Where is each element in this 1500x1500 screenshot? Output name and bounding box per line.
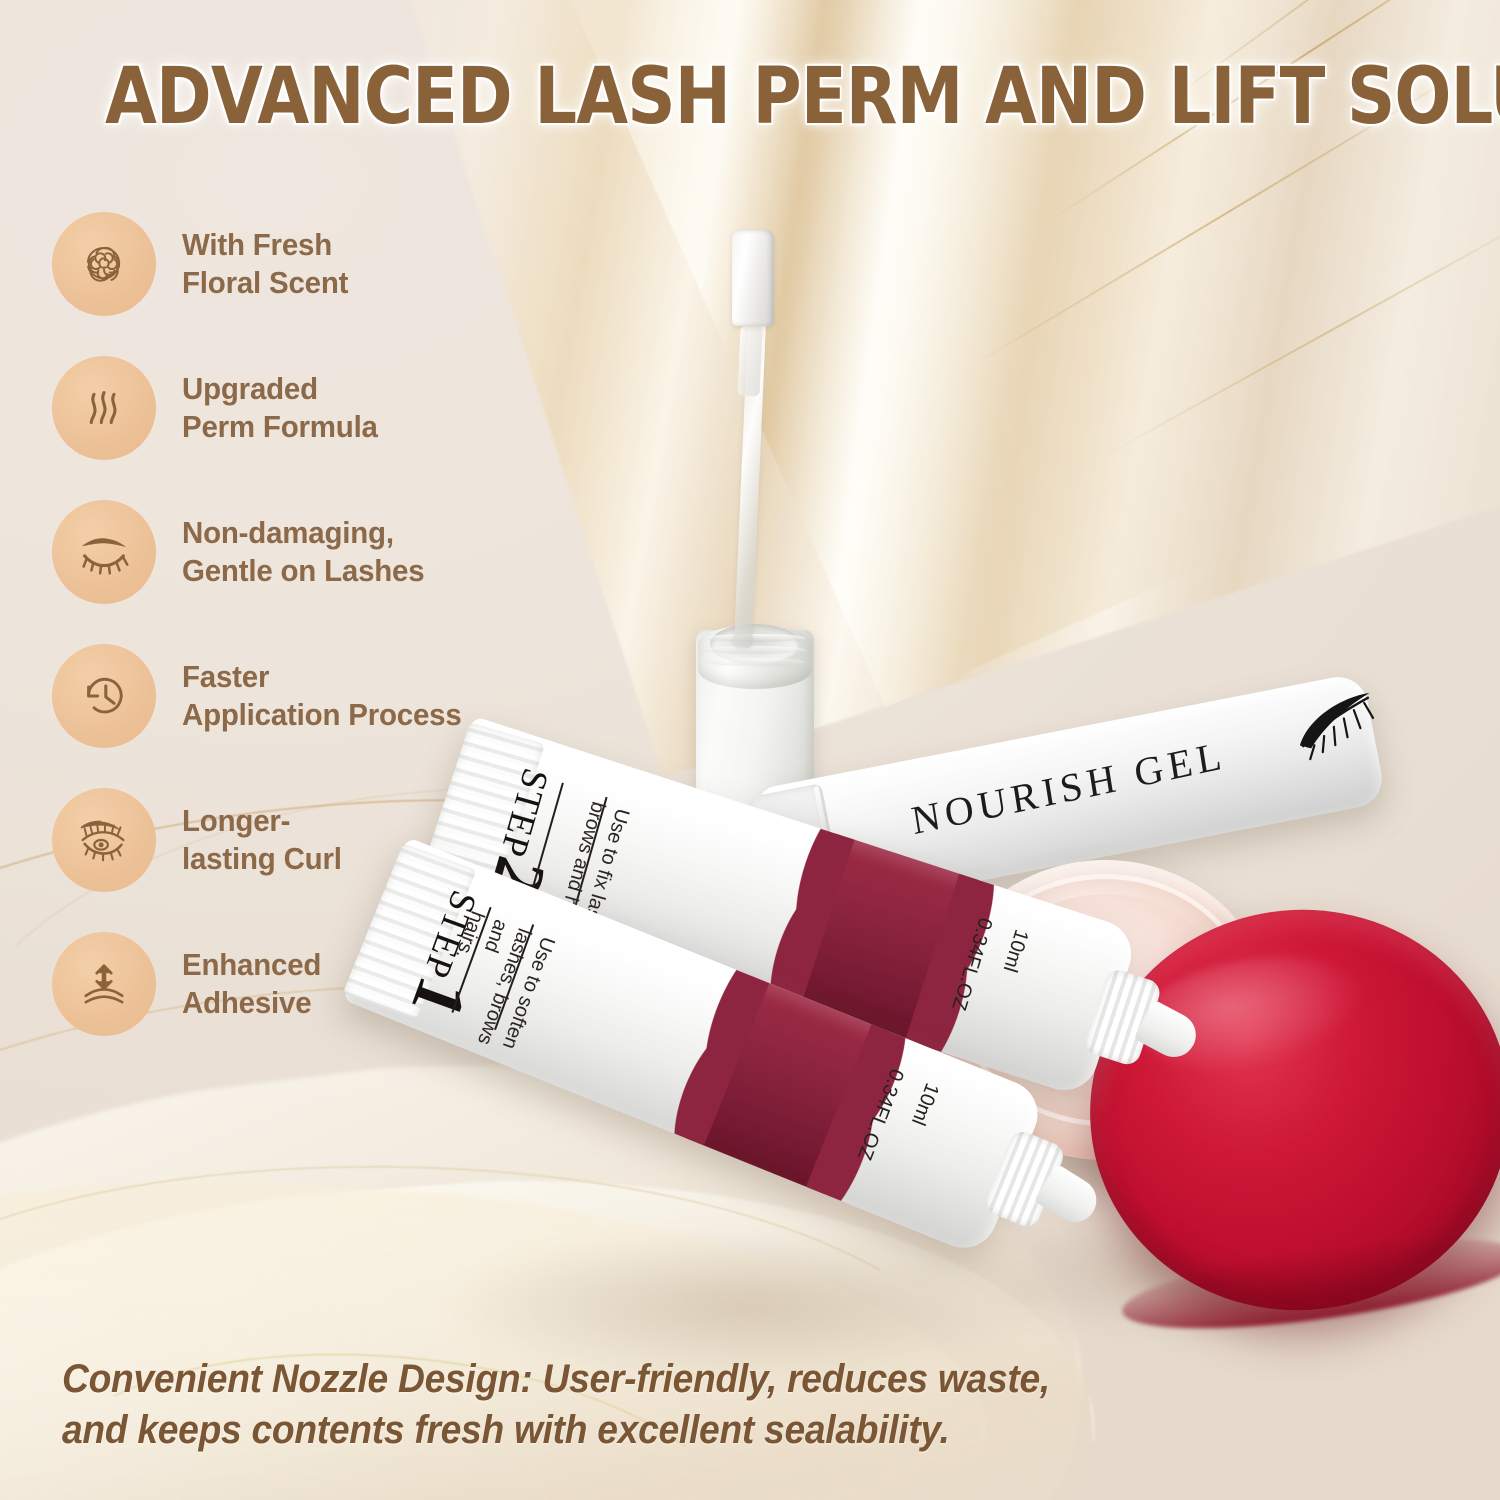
closed-eye-icon (52, 500, 156, 604)
feature-item-non-damaging: Non-damaging, Gentle on Lashes (52, 500, 482, 604)
feature-item-enhanced-adhesive: Enhanced Adhesive (52, 932, 482, 1036)
wavy-strands-icon (52, 356, 156, 460)
feature-item-floral-scent: With Fresh Floral Scent (52, 212, 482, 316)
feature-label-faster-application: Faster Application Process (182, 658, 462, 734)
wand-rod-highlight (737, 326, 762, 397)
elasticity-icon (52, 932, 156, 1036)
feature-line2: Adhesive (182, 984, 321, 1022)
bottom-caption: Convenient Nozzle Design: User-friendly,… (62, 1354, 1159, 1456)
feature-line2: Perm Formula (182, 408, 378, 446)
page-title: ADVANCED LASH PERM AND LIFT SOLUTION (105, 58, 1395, 136)
feature-label-enhanced-adhesive: Enhanced Adhesive (182, 946, 321, 1022)
feature-item-perm-formula: Upgraded Perm Formula (52, 356, 482, 460)
feature-line1: With Fresh (182, 226, 348, 264)
feature-line2: lasting Curl (182, 840, 342, 878)
wand-thread (704, 658, 806, 666)
wand-cap (732, 230, 774, 326)
feature-item-longer-curl: Longer- lasting Curl (52, 788, 482, 892)
feature-list: With Fresh Floral Scent Upgraded Perm Fo… (52, 212, 482, 1036)
feature-line1: Longer- (182, 802, 342, 840)
wand-thread (704, 646, 806, 654)
feature-line1: Enhanced (182, 946, 321, 984)
product-infographic: NOURISH GEL LASH LIFT KIT (0, 0, 1500, 1500)
feature-label-perm-formula: Upgraded Perm Formula (182, 370, 378, 446)
feature-line1: Non-damaging, (182, 514, 424, 552)
feature-line2: Application Process (182, 696, 462, 734)
feature-label-floral-scent: With Fresh Floral Scent (182, 226, 348, 302)
caption-line2: and keeps contents fresh with excellent … (62, 1405, 1159, 1456)
feature-label-longer-curl: Longer- lasting Curl (182, 802, 342, 878)
caption-line1: Convenient Nozzle Design: User-friendly,… (62, 1354, 1159, 1405)
rose-icon (52, 212, 156, 316)
product-photo: NOURISH GEL LASH LIFT KIT (320, 200, 1500, 1420)
clock-icon (52, 644, 156, 748)
feature-line2: Gentle on Lashes (182, 552, 424, 590)
feature-line1: Faster (182, 658, 462, 696)
feature-item-faster-application: Faster Application Process (52, 644, 482, 748)
feature-label-non-damaging: Non-damaging, Gentle on Lashes (182, 514, 424, 590)
brow-lash-icon (52, 788, 156, 892)
feature-line2: Floral Scent (182, 264, 348, 302)
feature-line1: Upgraded (182, 370, 378, 408)
wand-thread (704, 634, 806, 642)
